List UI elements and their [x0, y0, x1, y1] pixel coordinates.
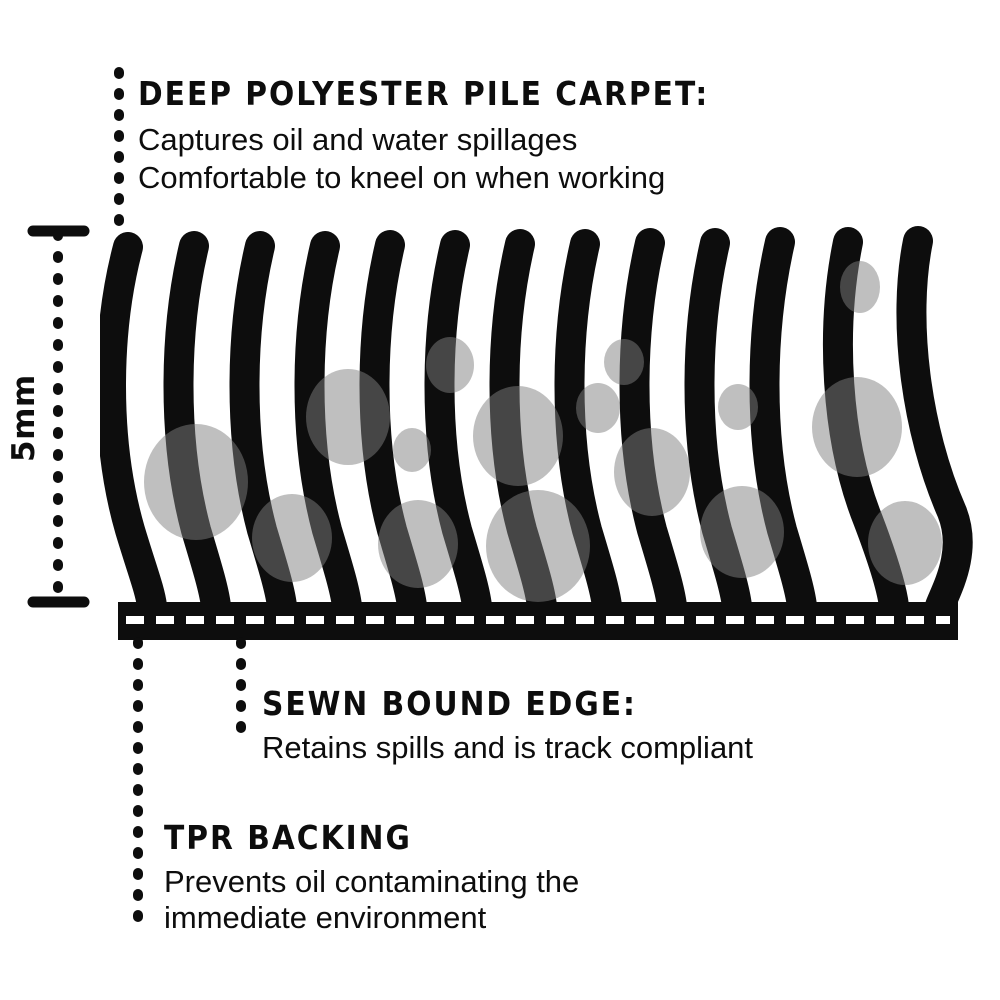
spill-droplet: [604, 339, 644, 385]
spill-droplet: [306, 369, 390, 465]
spill-droplet: [378, 500, 458, 588]
spill-droplet: [868, 501, 942, 585]
pile-fiber: [111, 247, 152, 606]
dimension-label-5mm: 5mm: [6, 378, 42, 462]
callout-heading-deep-polyester-pile-carpet: DEEP POLYESTER PILE CARPET:: [138, 74, 709, 113]
spill-droplet: [486, 490, 590, 602]
callout-heading-sewn-bound-edge: SEWN BOUND EDGE:: [262, 684, 637, 723]
spill-droplet: [614, 428, 690, 516]
spill-droplet: [700, 486, 784, 578]
callout-line-immediate-environment: immediate environment: [164, 900, 486, 936]
callout-heading-tpr-backing: TPR BACKING: [164, 818, 412, 857]
tpr-backing-bar: [118, 602, 958, 640]
spill-droplet: [718, 384, 758, 430]
spill-droplet: [252, 494, 332, 582]
spill-droplet: [426, 337, 474, 393]
callout-line-comfortable-to-kneel-on: Comfortable to kneel on when working: [138, 160, 665, 196]
spill-droplet: [576, 383, 620, 433]
diagram-canvas: 5mm DEEP POLYESTER PILE CARPET: Captures…: [0, 0, 1000, 1000]
spill-droplet-group: [144, 261, 942, 602]
callout-line-captures-oil-and-water-spillages: Captures oil and water spillages: [138, 122, 577, 158]
spill-droplet: [812, 377, 902, 477]
spill-droplet: [393, 428, 431, 472]
pile-fiber: [635, 243, 673, 606]
callout-line-retains-spills-track-compliant: Retains spills and is track compliant: [262, 730, 753, 766]
spill-droplet: [840, 261, 880, 313]
spill-droplet: [144, 424, 248, 540]
spill-droplet: [473, 386, 563, 486]
callout-line-prevents-oil-contaminating: Prevents oil contaminating the: [164, 864, 579, 900]
